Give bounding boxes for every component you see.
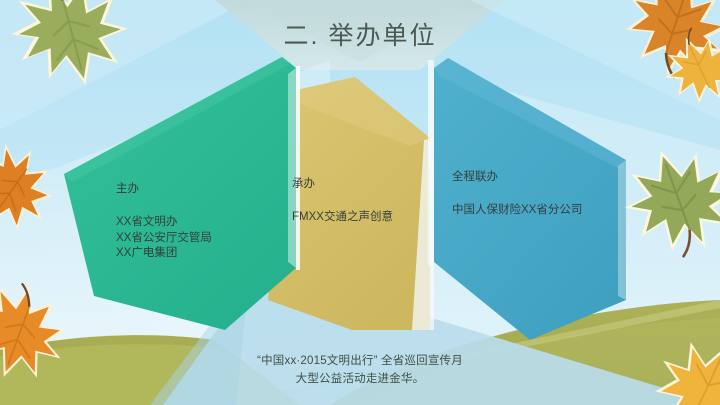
maple-leaf-orange-left (0, 129, 71, 246)
panel-text-cooperation: 全程联办 中国人保财险XX省分公司 (452, 169, 604, 219)
footer-line-2: 大型公益活动走进金华。 (150, 370, 570, 388)
maple-leaf-green-right (611, 131, 720, 270)
footer-line-1: “中国xx·2015文明出行” 全省巡回宣传月 (150, 352, 570, 370)
panel-body-cooperation: 中国人保财险XX省分公司 (452, 203, 604, 219)
maple-leaf-amber-bottomright (637, 324, 720, 405)
presentation-slide: 二. 举办单位 主办 XX省文明办 XX省公安厅交管局 XX广电集团 承办 FM… (0, 0, 720, 405)
cooperation-line-1: 中国人保财险XX省分公司 (452, 203, 604, 219)
host-line-1: XX省文明办 (116, 215, 266, 231)
panel-heading-cooperation: 全程联办 (452, 169, 604, 185)
panel-text-organizer: 承办 FMXX交通之声创意 (292, 176, 442, 226)
panel-heading-host: 主办 (116, 181, 266, 197)
panel-body-host: XX省文明办 XX省公安厅交管局 XX广电集团 (116, 215, 266, 262)
panel-body-organizer: FMXX交通之声创意 (292, 210, 442, 226)
page-title: 二. 举办单位 (0, 16, 720, 52)
panel-heading-organizer: 承办 (292, 176, 442, 192)
organizer-line-1: FMXX交通之声创意 (292, 210, 442, 226)
host-line-3: XX广电集团 (116, 246, 266, 262)
maple-leaf-orange-bottomleft (0, 271, 80, 393)
host-line-2: XX省公安厅交管局 (116, 231, 266, 247)
panel-text-host: 主办 XX省文明办 XX省公安厅交管局 XX广电集团 (116, 181, 266, 262)
footer-caption: “中国xx·2015文明出行” 全省巡回宣传月 大型公益活动走进金华。 (150, 352, 570, 388)
